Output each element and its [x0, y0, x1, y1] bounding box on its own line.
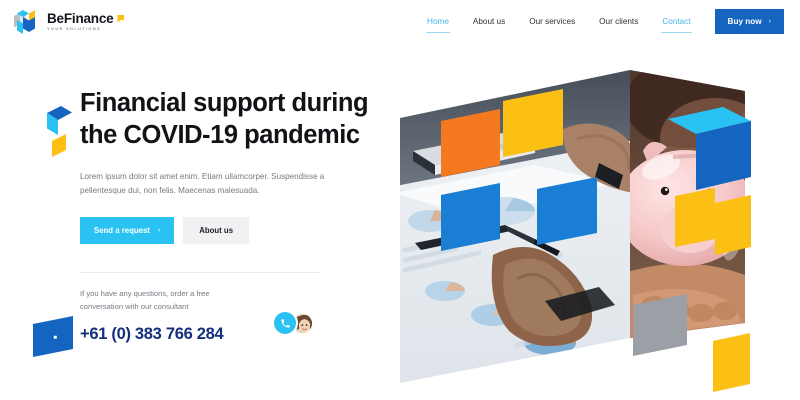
nav-item-home[interactable]: Home	[415, 13, 461, 30]
contact-block: If you have any questions, order a free …	[80, 287, 400, 344]
hero-section: Financial support during the COVID-19 pa…	[0, 43, 800, 400]
finance-photo-collage	[385, 43, 800, 400]
hero-cta-row: Send a request › About us	[80, 217, 400, 244]
section-divider	[80, 272, 320, 273]
consultant-widget[interactable]	[274, 312, 314, 335]
befinance-cube-logo-icon	[14, 8, 40, 36]
nav-item-our-clients[interactable]: Our clients	[587, 13, 650, 30]
center-dot-icon	[54, 336, 57, 339]
chevron-right-icon: ›	[158, 227, 160, 234]
brand-text: BeFinance YOUR SOLUTIONS	[47, 12, 124, 31]
phone-handset-icon[interactable]	[274, 312, 296, 334]
chevron-right-icon: ›	[769, 18, 771, 25]
send-a-request-label: Send a request	[94, 226, 150, 235]
nav-item-our-services[interactable]: Our services	[517, 13, 587, 30]
about-us-button[interactable]: About us	[183, 217, 249, 244]
buy-now-button[interactable]: Buy now ›	[715, 9, 784, 34]
send-a-request-button[interactable]: Send a request ›	[80, 217, 174, 244]
contact-note: If you have any questions, order a free …	[80, 287, 232, 313]
isometric-cube-icon	[34, 105, 72, 167]
brand-tagline: YOUR SOLUTIONS	[47, 27, 124, 31]
brand-logo[interactable]: BeFinance YOUR SOLUTIONS	[14, 8, 124, 36]
hero-left-column: Financial support during the COVID-19 pa…	[0, 43, 400, 400]
site-header: BeFinance YOUR SOLUTIONS Home About us O…	[0, 0, 800, 43]
contact-phone-number[interactable]: +61 (0) 383 766 284	[80, 325, 400, 344]
buy-now-label: Buy now	[728, 17, 762, 26]
hero-description: Lorem ipsum dolor sit amet enim. Etiam u…	[80, 170, 348, 198]
documents-photo	[385, 43, 645, 400]
nav-item-about-us[interactable]: About us	[461, 13, 517, 30]
yellow-flag-icon	[117, 15, 124, 23]
blue-parallelogram-icon	[32, 315, 78, 359]
nav-item-contact[interactable]: Contact	[650, 13, 702, 30]
brand-name: BeFinance	[47, 12, 113, 26]
main-navigation: Home About us Our services Our clients C…	[415, 9, 784, 34]
page-title: Financial support during the COVID-19 pa…	[80, 88, 370, 152]
